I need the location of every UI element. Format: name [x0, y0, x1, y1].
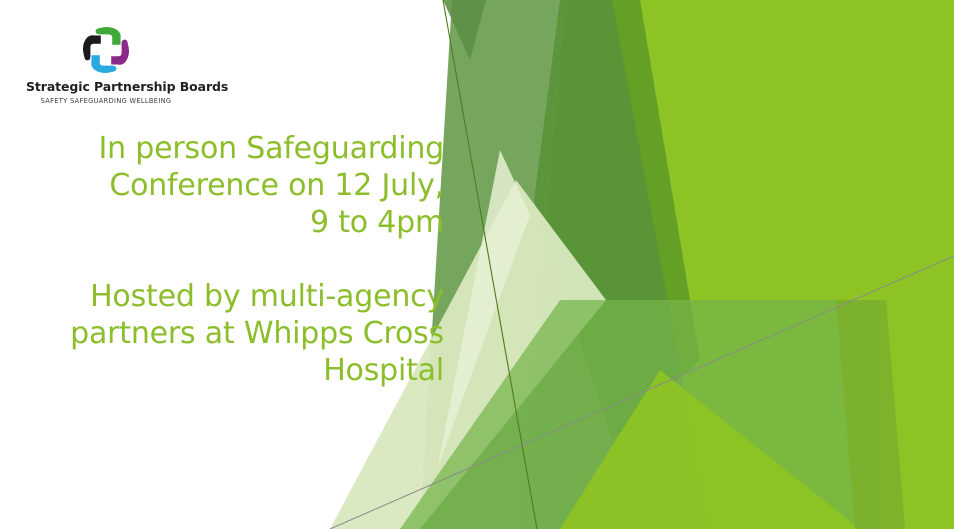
- shape-right-dark-sliver: [836, 300, 905, 529]
- slide-canvas: Strategic Partnership Boards SAFETY SAFE…: [0, 0, 954, 529]
- headline-line-4: Hosted by multi-agency: [90, 279, 444, 314]
- shape-bright-lower-triangle: [560, 370, 860, 529]
- pinwheel-logo-icon: [80, 24, 132, 76]
- shape-mid-green-overlay: [400, 300, 954, 529]
- shape-right-column: [880, 300, 954, 529]
- headline-line-1: In person Safeguarding: [99, 131, 445, 166]
- shape-light-mint-sliver: [437, 150, 530, 470]
- headline-primary: In person SafeguardingConference on 12 J…: [48, 130, 444, 242]
- organisation-logo: Strategic Partnership Boards SAFETY SAFE…: [26, 24, 186, 105]
- shape-olive-wedge-top: [443, 0, 486, 60]
- shape-bright-green-field: [520, 0, 954, 529]
- headline-line-2: Conference on 12 July,: [109, 168, 444, 203]
- headline-text-block: In person SafeguardingConference on 12 J…: [48, 130, 444, 389]
- logo-title: Strategic Partnership Boards: [26, 80, 186, 94]
- shape-sage-slab: [420, 0, 710, 529]
- olive-diagonal-line: [443, 0, 537, 529]
- headline-line-5: partners at Whipps Cross: [70, 316, 444, 351]
- shape-forest-band: [534, 0, 700, 440]
- headline-line-3: 9 to 4pm: [310, 205, 444, 240]
- headline-line-6: Hospital: [323, 353, 444, 388]
- logo-subtitle: SAFETY SAFEGUARDING WELLBEING: [26, 97, 186, 105]
- headline-secondary: Hosted by multi-agencypartners at Whipps…: [48, 278, 444, 390]
